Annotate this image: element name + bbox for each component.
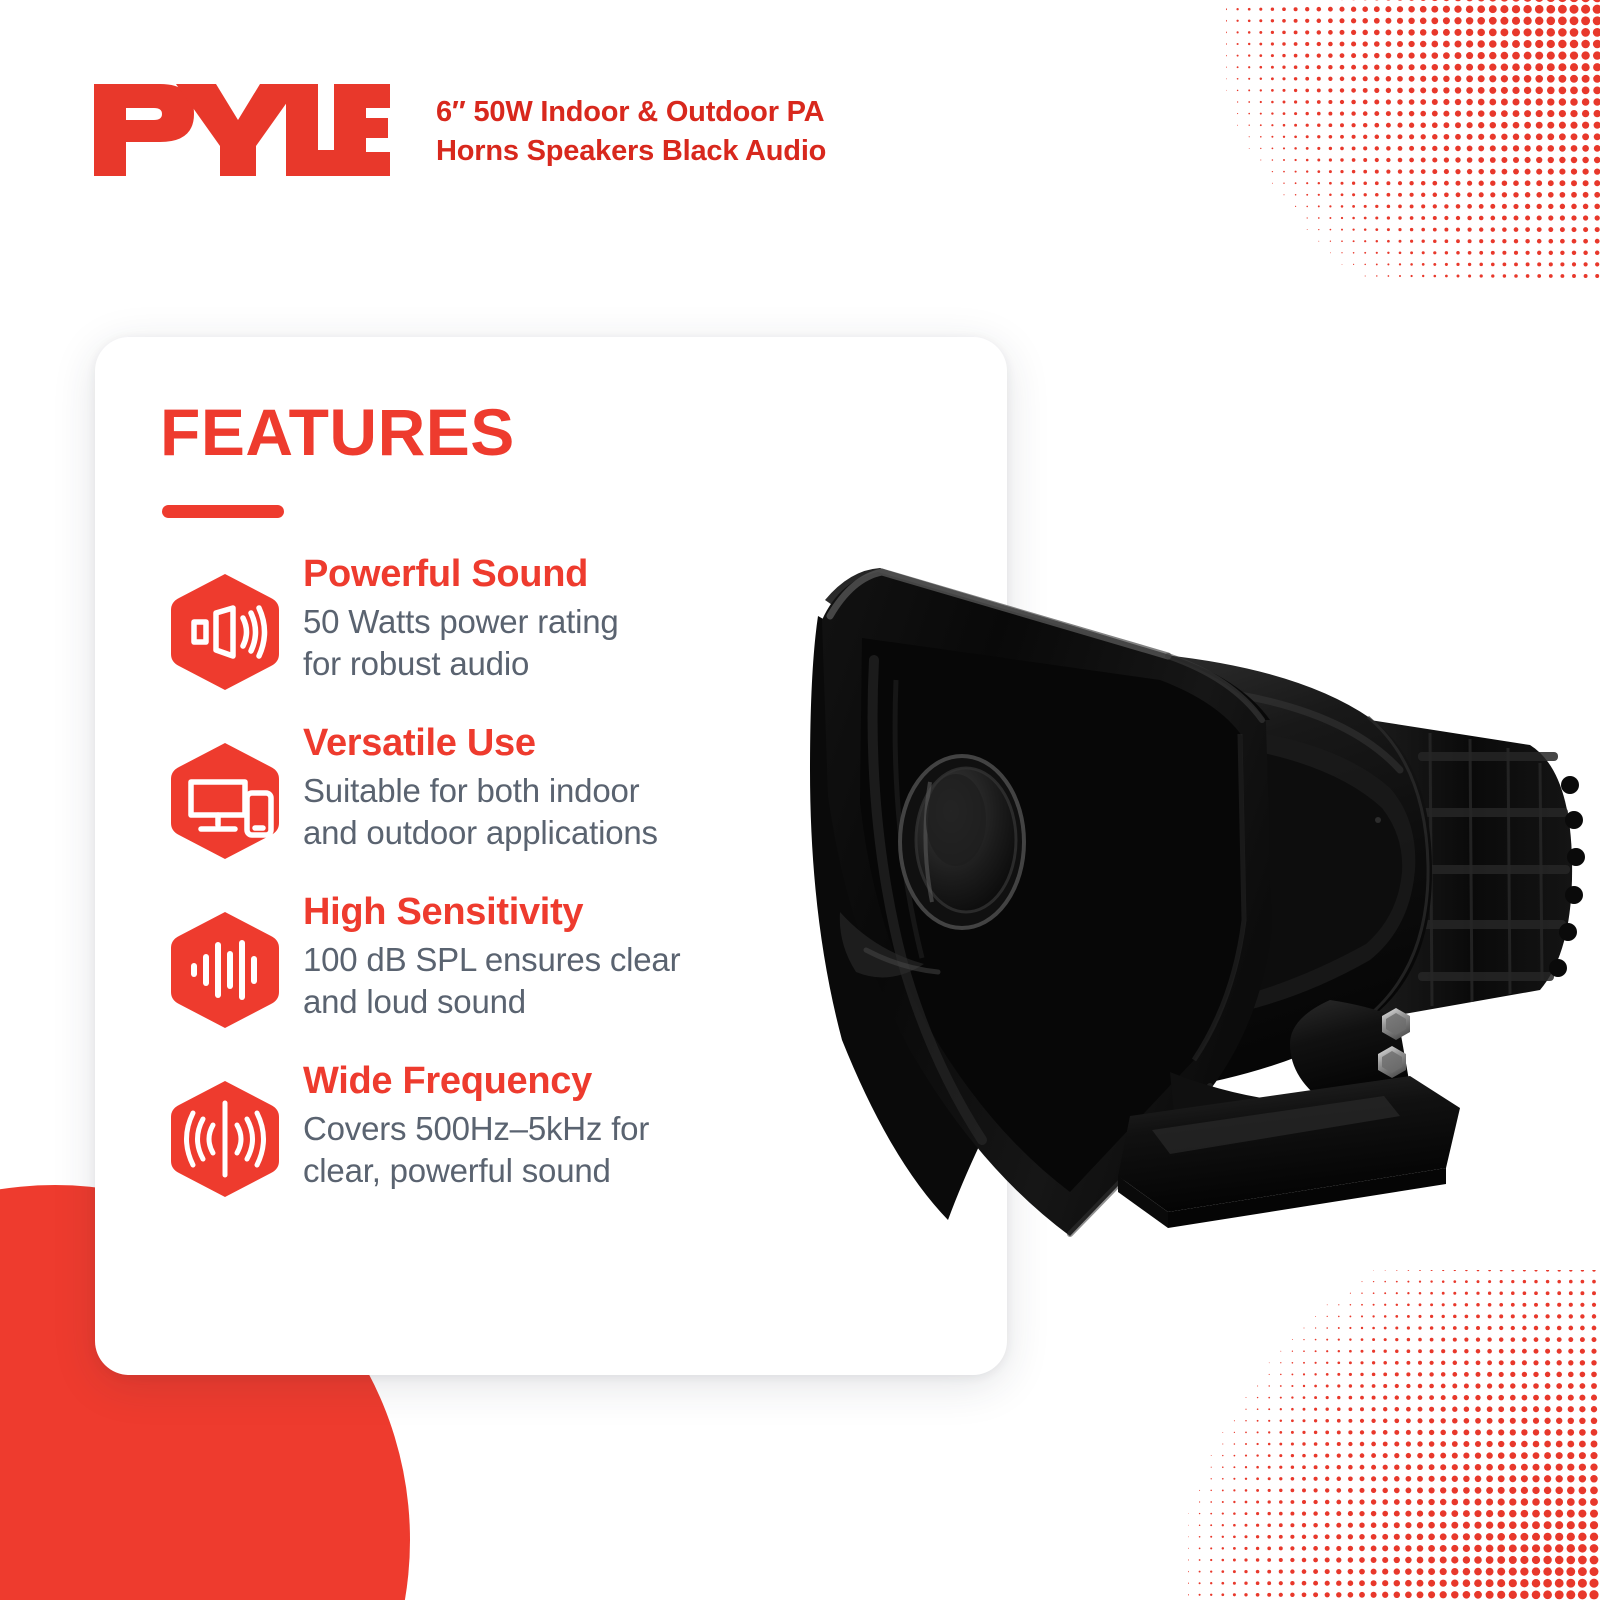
feature-icon-wrapper — [157, 890, 293, 1034]
pyle-logo-icon — [90, 80, 390, 180]
product-image-pa-horn-speaker — [770, 520, 1600, 1240]
audio-waveform-icon — [161, 906, 289, 1034]
feature-icon-wrapper — [157, 721, 293, 865]
monitor-phone-icon — [161, 737, 289, 865]
feature-icon-wrapper — [157, 1059, 293, 1203]
halftone-dots-bottom-right — [1188, 1270, 1600, 1600]
feature-icon-wrapper — [157, 552, 293, 696]
frequency-waves-icon — [161, 1075, 289, 1203]
infographic-page: 6″ 50W Indoor & Outdoor PA Horns Speaker… — [0, 0, 1600, 1600]
speaker-driver-cap — [900, 756, 1024, 928]
heading-underline — [162, 505, 284, 518]
halftone-dots-top-right — [1226, 0, 1600, 286]
product-title: 6″ 50W Indoor & Outdoor PA Horns Speaker… — [436, 78, 826, 170]
features-heading: FEATURES — [160, 399, 515, 465]
pyle-logo — [90, 78, 390, 185]
speaker-waves-icon — [161, 568, 289, 696]
header: 6″ 50W Indoor & Outdoor PA Horns Speaker… — [90, 78, 826, 185]
